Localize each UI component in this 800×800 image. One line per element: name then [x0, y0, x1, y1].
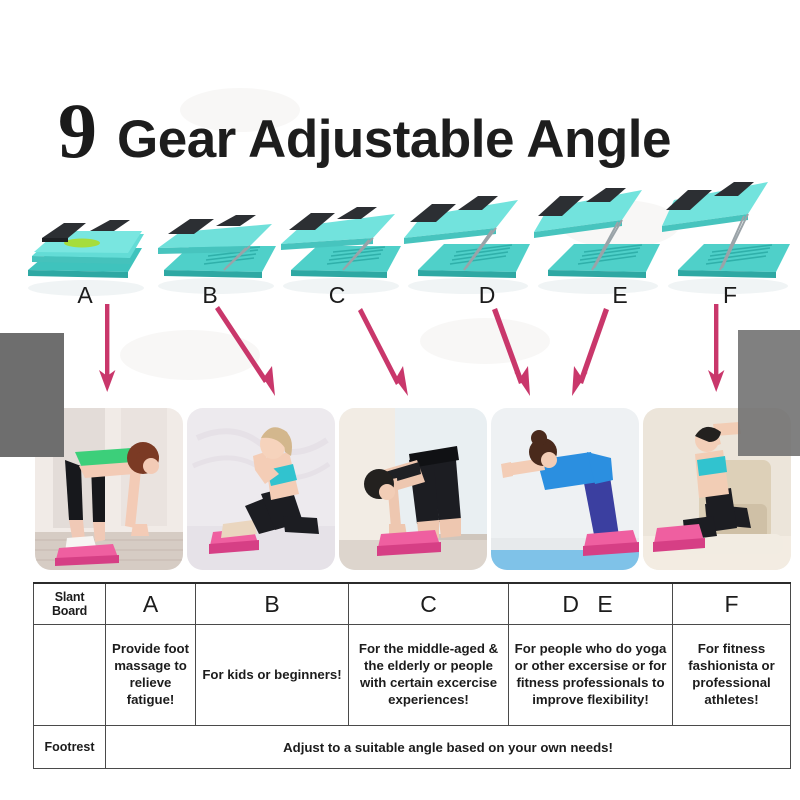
product-variant-row: [0, 178, 800, 298]
arrow-a: [99, 304, 115, 392]
gear-count-number: 9: [58, 92, 95, 170]
arrow-d: [492, 308, 530, 396]
desc-cell-de: For people who do yoga or other excersis…: [509, 625, 673, 726]
desc-cell-c: For the middle-aged & the elderly or peo…: [349, 625, 509, 726]
table-header-row: Slant Board A B C D E F: [34, 583, 791, 625]
footrest-note: Adjust to a suitable angle based on your…: [106, 726, 791, 769]
product-variant-e: [530, 180, 665, 298]
arrow-c: [358, 308, 408, 396]
page-title: 9 Gear Adjustable Angle: [58, 92, 671, 162]
col-header-c: C: [349, 583, 509, 625]
comparison-table: Slant Board A B C D E F Provide foot mas…: [33, 582, 791, 769]
table-description-row: Provide foot massage to relieve fatigue!…: [34, 625, 791, 726]
desc-cell-b: For kids or beginners!: [196, 625, 349, 726]
product-variant-f: [660, 178, 795, 298]
title-text: Gear Adjustable Angle: [117, 113, 671, 166]
row-label-footrest: Footrest: [34, 726, 106, 769]
col-header-b: B: [196, 583, 349, 625]
col-header-f: F: [673, 583, 791, 625]
gray-block-right: [738, 330, 800, 456]
desc-cell-a: Provide foot massage to relieve fatigue!: [106, 625, 196, 726]
arrow-group: [0, 300, 800, 410]
col-header-a: A: [106, 583, 196, 625]
usage-photo-b: [187, 408, 335, 570]
product-infographic: 9 Gear Adjustable Angle: [0, 0, 800, 800]
col-header-de: D E: [509, 583, 673, 625]
desc-cell-f: For fitness fashionista or professional …: [673, 625, 791, 726]
arrow-e: [572, 308, 609, 396]
row-label-slant-board: Slant Board: [34, 583, 106, 625]
usage-photo-d: [491, 408, 639, 570]
table-footrest-row: Footrest Adjust to a suitable angle base…: [34, 726, 791, 769]
desc-cell-empty: [34, 625, 106, 726]
usage-photo-c: [339, 408, 487, 570]
product-variant-d: [400, 182, 535, 298]
gray-block-left: [0, 333, 64, 457]
arrow-f: [708, 304, 724, 392]
arrow-b: [215, 306, 275, 396]
usage-photo-strip: [0, 408, 800, 570]
